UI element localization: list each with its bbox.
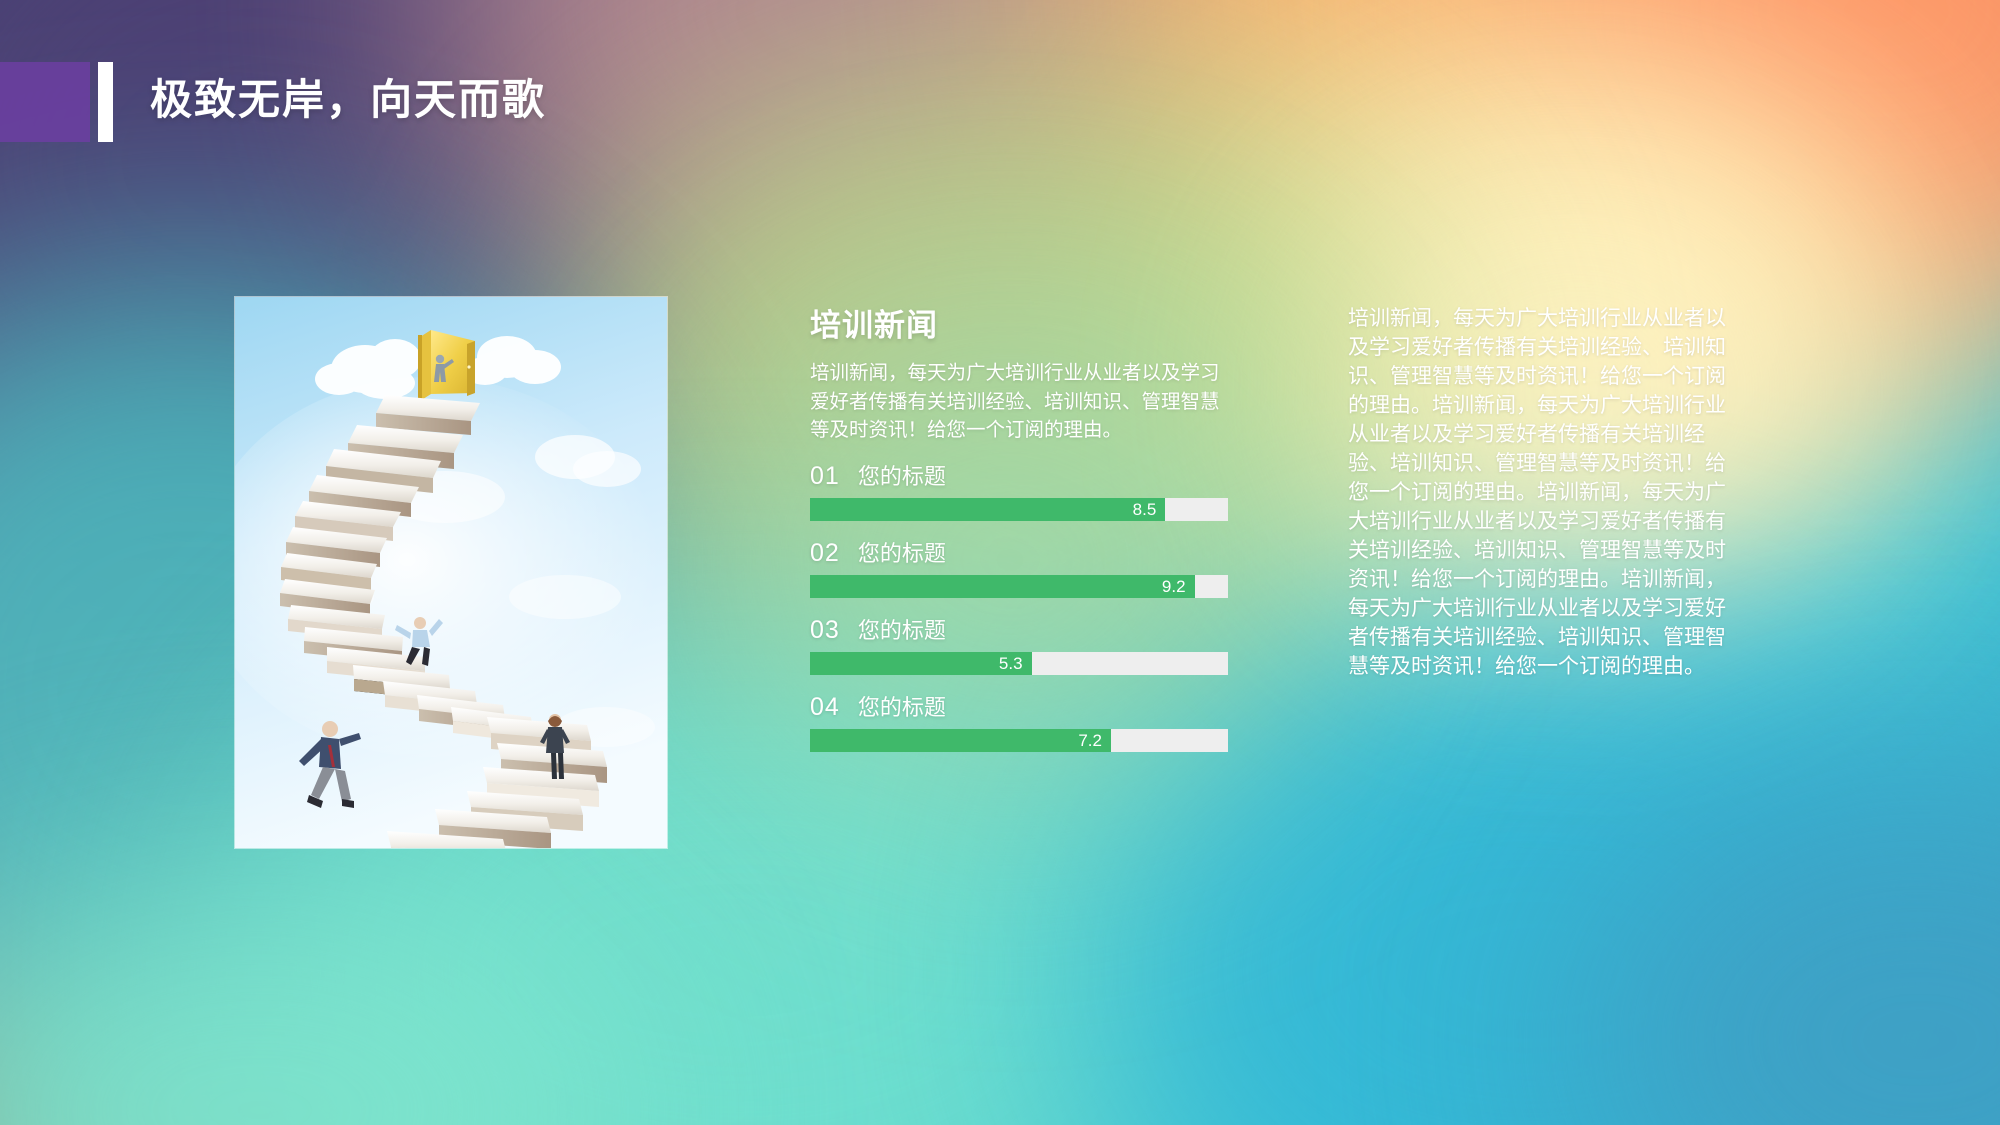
right-column-paragraph: 培训新闻，每天为广大培训行业从业者以及学习爱好者传播有关培训经验、培训知识、管理…: [1348, 305, 1738, 682]
progress-bar-value: 7.2: [1078, 729, 1111, 752]
list-item-label: 您的标题: [858, 459, 946, 491]
book-staircase-illustration: [235, 297, 667, 848]
list-item[interactable]: 04 您的标题 7.2: [810, 690, 1230, 752]
progress-bar-track[interactable]: 9.2: [810, 575, 1228, 598]
list-item-number: 03: [810, 616, 840, 645]
list-item[interactable]: 01 您的标题 8.5: [810, 459, 1230, 521]
list-item-label: 您的标题: [858, 536, 946, 568]
middle-column: 培训新闻 培训新闻，每天为广大培训行业从业者以及学习爱好者传播有关培训经验、培训…: [810, 300, 1230, 767]
header-accent-block: [0, 62, 90, 142]
progress-bar-fill: 7.2: [810, 729, 1111, 752]
section-heading: 培训新闻: [810, 300, 1230, 345]
progress-bar-fill: 8.5: [810, 498, 1165, 521]
progress-bar-value: 9.2: [1162, 575, 1195, 598]
progress-bar-fill: 5.3: [810, 652, 1032, 675]
list-item-header: 04 您的标题: [810, 690, 1230, 722]
progress-bar-track[interactable]: 7.2: [810, 729, 1228, 752]
list-item[interactable]: 03 您的标题 5.3: [810, 613, 1230, 675]
progress-item-list: 01 您的标题 8.5 02 您的标题 9.2: [810, 459, 1230, 752]
list-item-header: 03 您的标题: [810, 613, 1230, 645]
list-item-number: 01: [810, 462, 840, 491]
section-paragraph: 培训新闻，每天为广大培训行业从业者以及学习爱好者传播有关培训经验、培训知识、管理…: [810, 359, 1230, 445]
list-item-number: 04: [810, 693, 840, 722]
progress-bar-value: 5.3: [999, 652, 1032, 675]
page-title: 极致无岸，向天而歌: [150, 60, 546, 140]
header-accent-bar: [98, 62, 113, 142]
progress-bar-track[interactable]: 8.5: [810, 498, 1228, 521]
progress-bar-track[interactable]: 5.3: [810, 652, 1228, 675]
list-item-header: 01 您的标题: [810, 459, 1230, 491]
list-item-header: 02 您的标题: [810, 536, 1230, 568]
list-item-label: 您的标题: [858, 613, 946, 645]
list-item-number: 02: [810, 539, 840, 568]
progress-bar-fill: 9.2: [810, 575, 1195, 598]
list-item[interactable]: 02 您的标题 9.2: [810, 536, 1230, 598]
list-item-label: 您的标题: [858, 690, 946, 722]
slide-canvas: 极致无岸，向天而歌: [0, 0, 2000, 1125]
progress-bar-value: 8.5: [1133, 498, 1166, 521]
